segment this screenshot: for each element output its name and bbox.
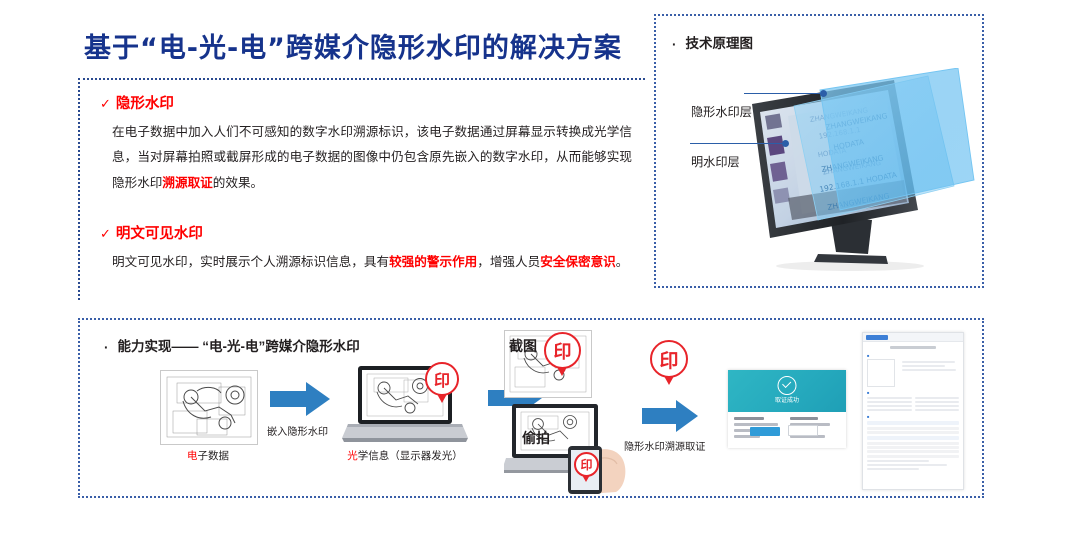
verify-card-body: [728, 412, 846, 443]
arrow-right-icon-3: [642, 400, 698, 432]
callout-label-visible-layer: 明水印层: [691, 152, 740, 170]
skeleton-line: [734, 423, 778, 426]
caption-rest: 学信息（显示器发光）: [358, 450, 463, 462]
close-button[interactable]: [788, 425, 818, 436]
report-section-heading: ■: [867, 390, 963, 395]
label-photo-capture: 偷拍: [522, 428, 550, 448]
report-table: [867, 436, 959, 458]
workflow-panel-title: ·能力实现—— “电-光-电”跨媒介隐形水印: [104, 335, 360, 355]
section-body-invisible-watermark: 在电子数据中加入人们不可感知的数字水印溯源标识，该电子数据通过屏幕显示转换成光学…: [112, 120, 632, 196]
verification-result-card: 取证成功: [728, 370, 846, 448]
body-highlight-run: 安全保密意识: [540, 255, 616, 269]
tech-panel-title-label: 技术原理图: [686, 36, 754, 51]
section-heading-label: 明文可见水印: [116, 226, 203, 242]
section-heading-invisible-watermark: ✓隐形水印: [100, 92, 174, 113]
seal-pin-tip: [557, 367, 567, 376]
report-table: [867, 421, 959, 434]
seal-glyph: 印: [544, 332, 581, 369]
seal-stamp-icon-4: 印: [650, 340, 694, 394]
evidence-report-document: ■ ■ ■: [862, 332, 964, 490]
report-toolbar: [863, 333, 963, 342]
screenshot-capture: 截图 印: [504, 330, 590, 396]
body-text-run: ，增强人员: [477, 255, 540, 269]
caption-rest: 子数据: [198, 450, 230, 462]
label-screenshot: 截图: [509, 336, 537, 356]
caption-red-char: 光: [347, 450, 358, 462]
section-heading-visible-watermark: ✓明文可见水印: [100, 222, 203, 243]
verify-card-header: 取证成功: [728, 370, 846, 412]
report-section-heading: ■: [867, 353, 963, 358]
left-content-column: 基于“电-光-电”跨媒介隐形水印的解决方案 ✓隐形水印 在电子数据中加入人们不可…: [60, 14, 645, 300]
blueprint-svg: [161, 371, 257, 444]
monitor-svg: ZHANGWEIKANG 192.168.1.1 HODATA ZHANGWEI…: [722, 68, 977, 273]
check-icon: ✓: [100, 226, 111, 241]
seal-pin-tip: [664, 376, 674, 385]
caption-electronic-data: 电子数据: [160, 448, 256, 463]
caption-red-char: 电: [187, 450, 198, 462]
arrow-label-trace-evidence: 隐形水印溯源取证: [624, 438, 706, 453]
arrow-label-embed-watermark: 嵌入隐形水印: [267, 423, 328, 438]
body-highlight-run: 溯源取证: [162, 176, 212, 190]
seal-glyph: 印: [425, 362, 459, 396]
title-divider: [78, 78, 645, 80]
seal-pin-tip: [437, 394, 447, 403]
arrow-right-icon-1: [270, 382, 330, 416]
bullet-dot-icon: ·: [104, 340, 109, 355]
skeleton-line: [734, 417, 764, 420]
seal-stamp-icon-3: 印: [574, 452, 604, 488]
bullet-dot-icon: ·: [672, 37, 677, 52]
section-heading-label: 隐形水印: [116, 96, 174, 112]
body-text-run: 的效果。: [213, 176, 263, 190]
report-title-placeholder: [890, 346, 936, 349]
callout-label-invisible-layer: 隐形水印层: [691, 102, 752, 120]
section-body-visible-watermark: 明文可见水印，实时展示个人溯源标识信息，具有较强的警示作用，增强人员安全保密意识…: [112, 250, 632, 275]
check-circle-icon: [778, 376, 797, 395]
page-title: 基于“电-光-电”跨媒介隐形水印的解决方案: [84, 26, 644, 65]
seal-glyph: 印: [574, 452, 599, 477]
callout-line-visible-layer: [690, 143, 784, 144]
laptop-phone-svg: [504, 402, 632, 494]
callout-line-invisible-layer: [744, 93, 822, 94]
report-section-heading: ■: [867, 414, 963, 419]
report-logo: [866, 335, 888, 340]
photo-capture: 偷拍 印: [504, 402, 632, 494]
seal-stamp-icon-2: 印: [544, 332, 588, 384]
monitor-illustration: ZHANGWEIKANG 192.168.1.1 HODATA ZHANGWEI…: [722, 68, 977, 273]
check-icon: ✓: [100, 96, 111, 111]
view-report-button[interactable]: [750, 427, 780, 436]
skeleton-line: [790, 417, 818, 420]
body-text-run: 明文可见水印，实时展示个人溯源标识信息，具有: [112, 255, 389, 269]
workflow-panel-title-label: 能力实现—— “电-光-电”跨媒介隐形水印: [118, 339, 360, 354]
seal-pin-tip: [582, 475, 590, 482]
capability-workflow-panel: ·能力实现—— “电-光-电”跨媒介隐形水印: [78, 318, 984, 498]
blueprint-electronic-data: [160, 370, 258, 445]
body-text-run: 。: [616, 255, 629, 269]
body-highlight-run: 较强的警示作用: [389, 255, 477, 269]
slide-root: 基于“电-光-电”跨媒介隐形水印的解决方案 ✓隐形水印 在电子数据中加入人们不可…: [0, 0, 1080, 539]
verify-title: 取证成功: [728, 395, 846, 404]
left-vertical-rule: [78, 78, 80, 300]
report-thumbnail: [867, 359, 895, 387]
seal-stamp-icon-1: 印: [425, 362, 465, 410]
caption-optical-info: 光学信息（显示器发光）: [332, 448, 478, 463]
tech-principle-panel: ·技术原理图: [654, 14, 984, 288]
tech-panel-title: ·技术原理图: [672, 32, 753, 52]
seal-glyph: 印: [650, 340, 688, 378]
